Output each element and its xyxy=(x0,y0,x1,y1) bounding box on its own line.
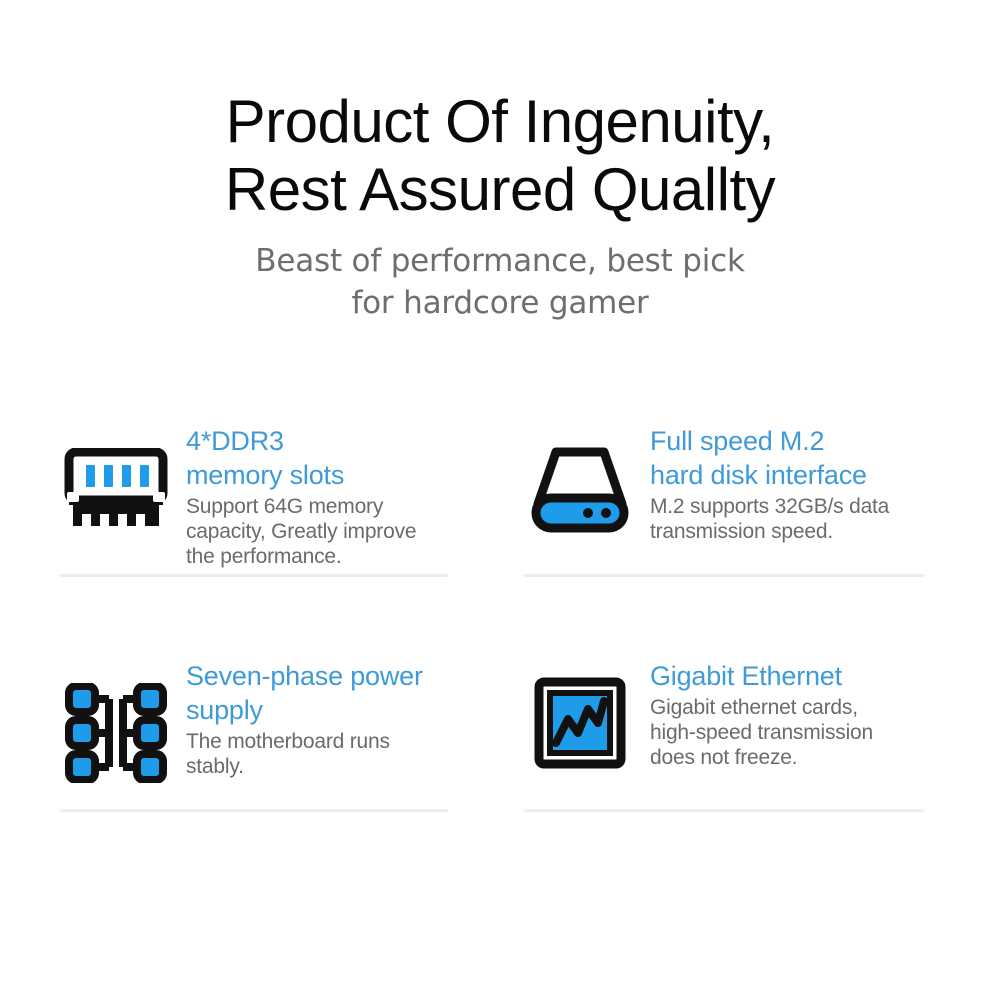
feature-title: Gigabit Ethernet xyxy=(650,659,873,693)
feature-description: The motherboard runs stably. xyxy=(186,729,423,779)
feature-title: 4*DDR3 memory slots xyxy=(186,424,416,492)
memory-module-icon xyxy=(60,420,172,520)
feature-divider xyxy=(524,809,924,812)
feature-divider xyxy=(60,574,448,577)
feature-title: Seven-phase power supply xyxy=(186,659,423,727)
feature-card-power: Seven-phase power supply The motherboard… xyxy=(60,655,512,890)
feature-description: Support 64G memory capacity, Greatly imp… xyxy=(186,494,416,569)
feature-card-harddisk: Full speed M.2 hard disk interface M.2 s… xyxy=(512,420,940,655)
feature-text-harddisk: Full speed M.2 hard disk interface M.2 s… xyxy=(636,420,889,544)
ethernet-signal-icon xyxy=(524,655,636,755)
feature-card-memory: 4*DDR3 memory slots Support 64G memory c… xyxy=(60,420,512,655)
feature-divider xyxy=(60,809,448,812)
feature-description: M.2 supports 32GB/s data transmission sp… xyxy=(650,494,889,544)
feature-divider xyxy=(524,574,924,577)
feature-text-ethernet: Gigabit Ethernet Gigabit ethernet cards,… xyxy=(636,655,873,770)
hard-disk-icon xyxy=(524,420,636,520)
feature-grid: 4*DDR3 memory slots Support 64G memory c… xyxy=(60,420,940,890)
promo-page: Product Of Ingenuity, Rest Assured Quall… xyxy=(0,0,1000,1000)
feature-title: Full speed M.2 hard disk interface xyxy=(650,424,889,492)
feature-description: Gigabit ethernet cards, high-speed trans… xyxy=(650,695,873,770)
page-title: Product Of Ingenuity, Rest Assured Quall… xyxy=(0,88,1000,224)
feature-text-memory: 4*DDR3 memory slots Support 64G memory c… xyxy=(172,420,416,569)
power-phase-circuit-icon xyxy=(60,655,172,755)
feature-card-ethernet: Gigabit Ethernet Gigabit ethernet cards,… xyxy=(512,655,940,890)
hero-section: Product Of Ingenuity, Rest Assured Quall… xyxy=(0,88,1000,324)
feature-text-power: Seven-phase power supply The motherboard… xyxy=(172,655,423,779)
page-subtitle: Beast of performance, best pick for hard… xyxy=(0,240,1000,324)
